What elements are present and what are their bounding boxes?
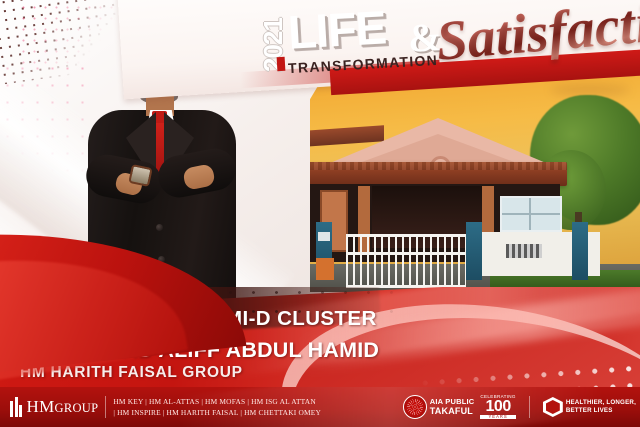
celebrating-100-years-badge: CELEBRATING 100 YEARS bbox=[480, 395, 515, 420]
aia-public-takaful-logo: AIA PUBLIC TAKAFUL bbox=[403, 395, 475, 419]
hmgroup-hm: HM bbox=[27, 397, 55, 416]
front-gate bbox=[346, 234, 466, 288]
award-poster: 2021 LIFE & TRANSFORMATION Satisfaction … bbox=[0, 0, 640, 427]
aia-line-1: AIA PUBLIC bbox=[430, 397, 475, 406]
aia-tagline-text: HEALTHIER, LONGER, BETTER LIVES bbox=[566, 399, 636, 415]
hmgroup-group: GROUP bbox=[55, 401, 99, 415]
tagline-line-1: HEALTHIER, LONGER, bbox=[566, 399, 636, 407]
gate-rail bbox=[346, 252, 466, 255]
celebrating-number: 100 bbox=[480, 399, 515, 415]
utility-box bbox=[316, 258, 334, 280]
brand-list: HM KEY | HM AL-ATTAS | HM MOFAS | HM ISG… bbox=[113, 396, 321, 419]
aia-circle-icon bbox=[403, 395, 427, 419]
tagline-line-2: BETTER LIVES bbox=[566, 407, 636, 415]
wall-vent bbox=[506, 244, 542, 258]
wristwatch bbox=[128, 164, 152, 187]
footer-divider-2 bbox=[529, 396, 530, 418]
roof-tiles bbox=[310, 162, 567, 170]
partner-logos: AIA PUBLIC TAKAFUL CELEBRATING 100 YEARS… bbox=[403, 395, 640, 420]
footer-bar: HMGROUP HM KEY | HM AL-ATTAS | HM MOFAS … bbox=[0, 387, 640, 427]
aia-hex-icon bbox=[543, 397, 563, 417]
hmgroup-wordmark: HMGROUP bbox=[27, 397, 99, 417]
house-window bbox=[500, 196, 562, 232]
halftone-dots-top-right bbox=[536, 0, 640, 66]
speckle-dots-left bbox=[0, 60, 90, 210]
footer-divider bbox=[105, 396, 106, 418]
aia-line-2: TAKAFUL bbox=[430, 406, 475, 416]
hmgroup-logo: HMGROUP bbox=[10, 397, 98, 417]
hmgroup-mark-icon bbox=[10, 397, 24, 417]
gate-post-right bbox=[466, 222, 482, 280]
utility-meter bbox=[318, 232, 330, 241]
brand-list-line-2: | HM INSPIRE | HM HARITH FAISAL | HM CHE… bbox=[113, 407, 321, 418]
celebrating-years: YEARS bbox=[480, 415, 515, 419]
aia-tagline-logo: HEALTHIER, LONGER, BETTER LIVES bbox=[543, 397, 636, 417]
brand-list-line-1: HM KEY | HM AL-ATTAS | HM MOFAS | HM ISG… bbox=[113, 396, 321, 407]
wall-post bbox=[572, 222, 588, 280]
aia-public-takaful-text: AIA PUBLIC TAKAFUL bbox=[430, 398, 475, 417]
